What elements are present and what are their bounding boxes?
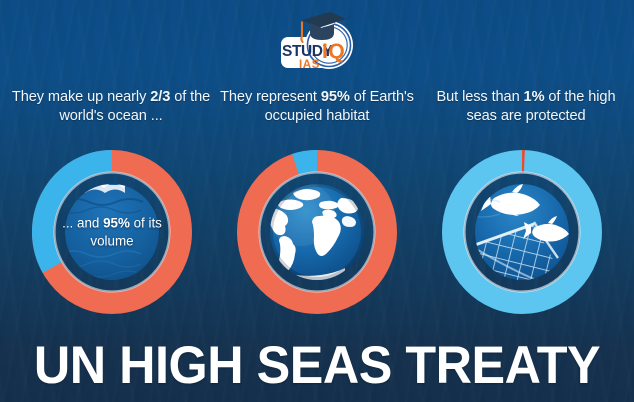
logo-word-ias: IAS: [299, 59, 320, 71]
fish-and-net-art: [466, 184, 569, 280]
headline-stat: 2/3: [150, 89, 170, 105]
infographic-canvas: STUDY IQ IAS They make up nearly 2/3 of …: [0, 0, 634, 402]
headline-occupied-habitat: They represent 95% of Earth's occupied h…: [214, 88, 420, 126]
logo-word-iq: IQ: [322, 40, 345, 63]
studyiq-ias-logo[interactable]: STUDY IQ IAS: [274, 2, 364, 78]
occupied-habitat-donut[interactable]: [237, 150, 397, 314]
headline-ocean-area: They make up nearly 2/3 of the world's o…: [6, 88, 216, 126]
ocean-area-donut[interactable]: ... and 95% of its volume: [32, 150, 192, 314]
headline-text-pre: But less than: [437, 89, 524, 105]
headline-stat: 95%: [321, 89, 350, 105]
headline-text-pre: They represent: [220, 89, 321, 105]
donut-chart-row: ... and 95% of its volume: [0, 150, 634, 314]
protected-high-seas-donut[interactable]: [442, 150, 602, 314]
donut-segment-other-blue: [296, 161, 318, 164]
inner-ocean-art: [60, 172, 159, 280]
globe-icon: [267, 182, 376, 282]
headline-protected-seas: But less than 1% of the high seas are pr…: [420, 88, 632, 126]
headline-text-pre: They make up nearly: [12, 89, 150, 105]
page-title: UN HIGH SEAS TREATY: [16, 336, 618, 396]
headline-stat: 1%: [524, 89, 545, 105]
